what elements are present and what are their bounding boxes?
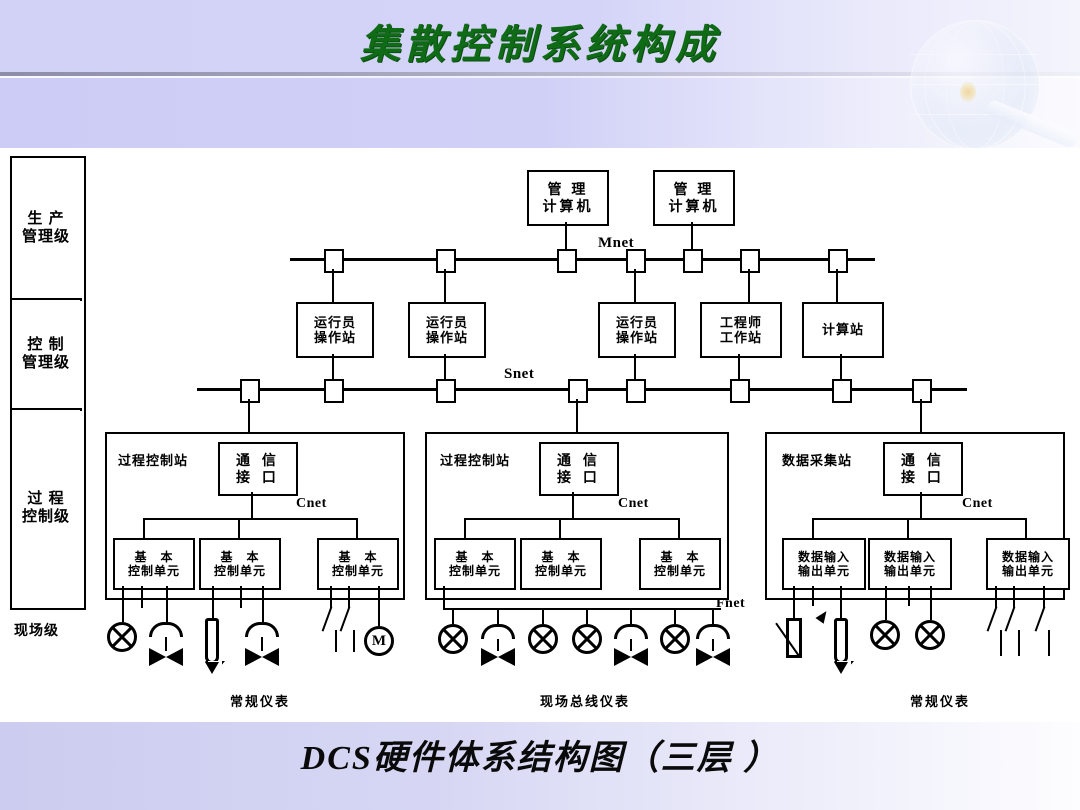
cnet-branch-1a [143,518,145,538]
unit-label-line1: 数据输入 [1002,550,1054,564]
diagram-canvas: 生 产 管理级 控 制 管理级 过 程 控制级 现场级 管 理 计算机 管 理 … [0,148,1080,722]
mnet-station-drop-4 [748,269,750,302]
mnet-station-drop-5 [836,269,838,302]
valve-actuator-icon-1-2 [245,622,279,637]
mnet-node-2 [436,249,456,273]
operator-station-1: 运行员 操作站 [296,302,374,358]
fnet-tap-6 [674,610,676,624]
header-band: 集散控制系统构成 [0,0,1080,148]
unit-label-line2: 控制单元 [535,564,587,578]
mnet-node-3 [557,249,577,273]
thermowell-tip-1-1 [205,662,219,674]
station-label-line1: 运行员 [314,315,356,330]
unit-label-line1: 数据输入 [798,550,850,564]
header-divider-highlight [0,76,1080,78]
level-label-line1: 生 产 [27,210,64,228]
snet-node-2 [324,379,344,403]
communication-interface-3: 通 信 接 口 [883,442,963,496]
field-wire-1-7 [330,586,332,608]
level-box-control-management: 控 制 管理级 [12,300,80,408]
motor-symbol-label: M [372,633,386,650]
control-valve-icon-2-2 [614,648,648,666]
station-label-line1: 运行员 [426,315,468,330]
slide-caption: DCS硬件体系结构图（三层 ） [0,730,1080,779]
cnet-branch-2c [678,518,680,538]
management-computer-line1: 管 理 [548,181,589,198]
engineer-workstation: 工程师 工作站 [700,302,782,358]
fnet-drop-2 [443,586,445,610]
cnet-bus-1 [143,518,358,520]
field-wire-1-1 [122,586,124,622]
station-label-line1: 工程师 [720,315,762,330]
snet-node-6 [730,379,750,403]
operator-station-2: 运行员 操作站 [408,302,486,358]
field-wire-3-6 [930,586,932,620]
panel-title-2: 过程控制站 [440,450,510,469]
control-valve-icon-2-3 [696,648,730,666]
valve-actuator-icon-2-2 [614,624,648,639]
data-io-unit-3-1: 数据输入 输出单元 [782,538,866,590]
basic-control-unit-2-2: 基 本 控制单元 [520,538,602,590]
field-wire-slant-3-1 [987,606,998,631]
basic-control-unit-2-1: 基 本 控制单元 [434,538,516,590]
snet-panel-drop-2 [576,399,578,434]
unit-label-line1: 基 本 [541,550,580,564]
snet-station-drop-3 [634,354,636,380]
data-io-unit-3-2: 数据输入 输出单元 [868,538,952,590]
comm-interface-line1: 通 信 [557,452,601,469]
field-wire-3-3 [840,586,842,618]
mnet-node-6 [740,249,760,273]
communication-interface-1: 通 信 接 口 [218,442,298,496]
cnet-label-1: Cnet [296,496,327,512]
cnet-branch-2a [464,518,466,538]
snet-node-3 [436,379,456,403]
field-caption-3: 常规仪表 [860,691,1020,710]
cnet-branch-2b [559,518,561,538]
data-io-unit-3-3: 数据输入 输出单元 [986,538,1070,590]
comm-interface-line2: 接 口 [901,469,945,486]
field-wire-1-3 [166,586,168,622]
unit-label-line1: 基 本 [220,550,259,564]
snet-station-drop-5 [840,354,842,380]
management-computer-line2: 计算机 [669,198,720,215]
control-valve-icon-1-2 [245,648,279,666]
station-label-line2: 操作站 [616,330,658,345]
comm-interface-line1: 通 信 [901,452,945,469]
unit-label-line1: 基 本 [134,550,173,564]
mnet-station-drop-1 [332,269,334,302]
field-instrument-icon-1-1 [107,622,137,652]
motor-icon-1-1: M [364,626,394,656]
unit-label-line2: 控制单元 [654,564,706,578]
level-label-line2: 管理级 [22,354,70,372]
level-label-line2: 管理级 [22,228,70,246]
unit-label-line1: 基 本 [338,550,377,564]
field-wire-3-9 [1043,586,1045,608]
snet-node-8 [912,379,932,403]
management-computer-line1: 管 理 [674,181,715,198]
level-label-line1: 过 程 [27,490,64,508]
cnet-label-2: Cnet [618,496,649,512]
unit-label-line2: 输出单元 [798,564,850,578]
snet-label: Snet [504,366,534,383]
field-wire-tail-3-1 [1000,630,1002,656]
comm-interface-line2: 接 口 [236,469,280,486]
fnet-tap-2 [497,610,499,624]
field-instrument-icon-2-1 [438,624,468,654]
cnet-branch-3c [1025,518,1027,538]
valve-actuator-icon-2-3 [696,624,730,639]
fnet-tap-4 [586,610,588,624]
mnet-node-5 [683,249,703,273]
mnet-node-1 [324,249,344,273]
field-wire-1-6 [262,586,264,622]
field-caption-2: 现场总线仪表 [495,691,675,710]
slide-root: 集散控制系统构成 生 产 管理级 控 制 管理级 过 程 控制级 现场级 管 理… [0,0,1080,810]
snet-node-4 [568,379,588,403]
field-wire-3-7 [995,586,997,608]
cnet-branch-1c [356,518,358,538]
field-caption-1: 常规仪表 [180,691,340,710]
panel-title-1: 过程控制站 [118,450,188,469]
mnet-bus-line [290,258,875,261]
unit-label-line2: 输出单元 [1002,564,1054,578]
station-label-line2: 操作站 [314,330,356,345]
level-label-line2: 控制级 [22,508,70,526]
field-wire-tail-3-2 [1018,630,1020,656]
field-instrument-icon-2-4 [660,624,690,654]
field-instrument-icon-2-3 [572,624,602,654]
valve-actuator-icon-1-1 [149,622,183,637]
communication-interface-2: 通 信 接 口 [539,442,619,496]
basic-control-unit-2-3: 基 本 控制单元 [639,538,721,590]
comm-interface-line1: 通 信 [236,452,280,469]
thermowell-icon-3-1 [834,618,848,664]
control-valve-icon-1-1 [149,648,183,666]
thermowell-tip-3-1 [834,662,848,674]
snet-node-5 [626,379,646,403]
fnet-tap-1 [452,610,454,624]
fnet-tap-7 [712,610,714,624]
field-level-label: 现场级 [14,620,59,640]
cnet-branch-1b [238,518,240,538]
cnet-bus-2 [464,518,680,520]
field-wire-slant-1-2 [340,606,351,631]
field-wire-slant-3-2 [1005,606,1016,631]
cnet-trunk-2 [572,492,574,520]
cnet-branch-3b [907,518,909,538]
field-wire-1-2 [141,586,143,608]
mnet-station-drop-3 [634,269,636,302]
level-box-process-control: 过 程 控制级 [12,410,80,606]
cnet-trunk-1 [251,492,253,520]
basic-control-unit-1-1: 基 本 控制单元 [113,538,195,590]
level-box-production-management: 生 产 管理级 [12,158,80,298]
field-wire-1-8 [348,586,350,608]
station-label-line2: 操作站 [426,330,468,345]
management-computer-1: 管 理 计算机 [527,170,609,226]
cnet-branch-3a [812,518,814,538]
snet-station-drop-1 [332,354,334,380]
unit-label-line2: 控制单元 [332,564,384,578]
field-wire-3-8 [1013,586,1015,608]
cnet-label-3: Cnet [962,496,993,512]
level-label-line1: 控 制 [27,336,64,354]
basic-control-unit-1-3: 基 本 控制单元 [317,538,399,590]
mnet-node-4 [626,249,646,273]
station-label-line1: 计算站 [822,322,864,337]
unit-label-line2: 输出单元 [884,564,936,578]
unit-label-line1: 基 本 [660,550,699,564]
unit-label-line1: 基 本 [455,550,494,564]
header-lower-band [0,78,1080,148]
field-instrument-icon-2-2 [528,624,558,654]
snet-panel-drop-1 [248,399,250,434]
snet-node-1 [240,379,260,403]
snet-node-7 [832,379,852,403]
snet-panel-drop-3 [920,399,922,434]
field-wire-slant-1-1 [322,606,333,631]
operator-station-3: 运行员 操作站 [598,302,676,358]
field-wire-slant-3-3 [1035,606,1046,631]
field-wire-3-5 [908,586,910,606]
field-wire-tail-1-2 [353,630,355,652]
field-wire-3-2 [812,586,814,606]
comm-interface-line2: 接 口 [557,469,601,486]
snet-station-drop-2 [444,354,446,380]
fnet-bus-line [443,608,721,610]
computing-station: 计算站 [802,302,884,358]
unit-label-line2: 控制单元 [214,564,266,578]
field-instrument-icon-3-1 [870,620,900,650]
fnet-tap-5 [630,610,632,624]
field-instrument-icon-3-2 [915,620,945,650]
snet-station-drop-4 [738,354,740,380]
unit-label-line2: 控制单元 [128,564,180,578]
resistor-arrow-head-3-1 [815,608,830,624]
cnet-bus-3 [812,518,1027,520]
fnet-tap-3 [542,610,544,624]
mnet-node-7 [828,249,848,273]
cnet-trunk-3 [920,492,922,520]
management-computer-2: 管 理 计算机 [653,170,735,226]
management-computer-line2: 计算机 [543,198,594,215]
control-valve-icon-2-1 [481,648,515,666]
unit-label-line1: 数据输入 [884,550,936,564]
field-wire-1-9 [378,586,380,626]
basic-control-unit-1-2: 基 本 控制单元 [199,538,281,590]
mnet-station-drop-2 [444,269,446,302]
thermowell-icon-1-1 [205,618,219,664]
station-label-line1: 运行员 [616,315,658,330]
field-wire-3-4 [885,586,887,620]
fnet-label: Fnet [716,596,745,612]
field-wire-1-5 [240,586,242,608]
station-label-line2: 工作站 [720,330,762,345]
panel-title-3: 数据采集站 [782,450,852,469]
unit-label-line2: 控制单元 [449,564,501,578]
valve-actuator-icon-2-1 [481,624,515,639]
slide-title: 集散控制系统构成 [0,12,1080,70]
field-wire-tail-1-1 [335,630,337,652]
field-wire-tail-3-3 [1048,630,1050,656]
